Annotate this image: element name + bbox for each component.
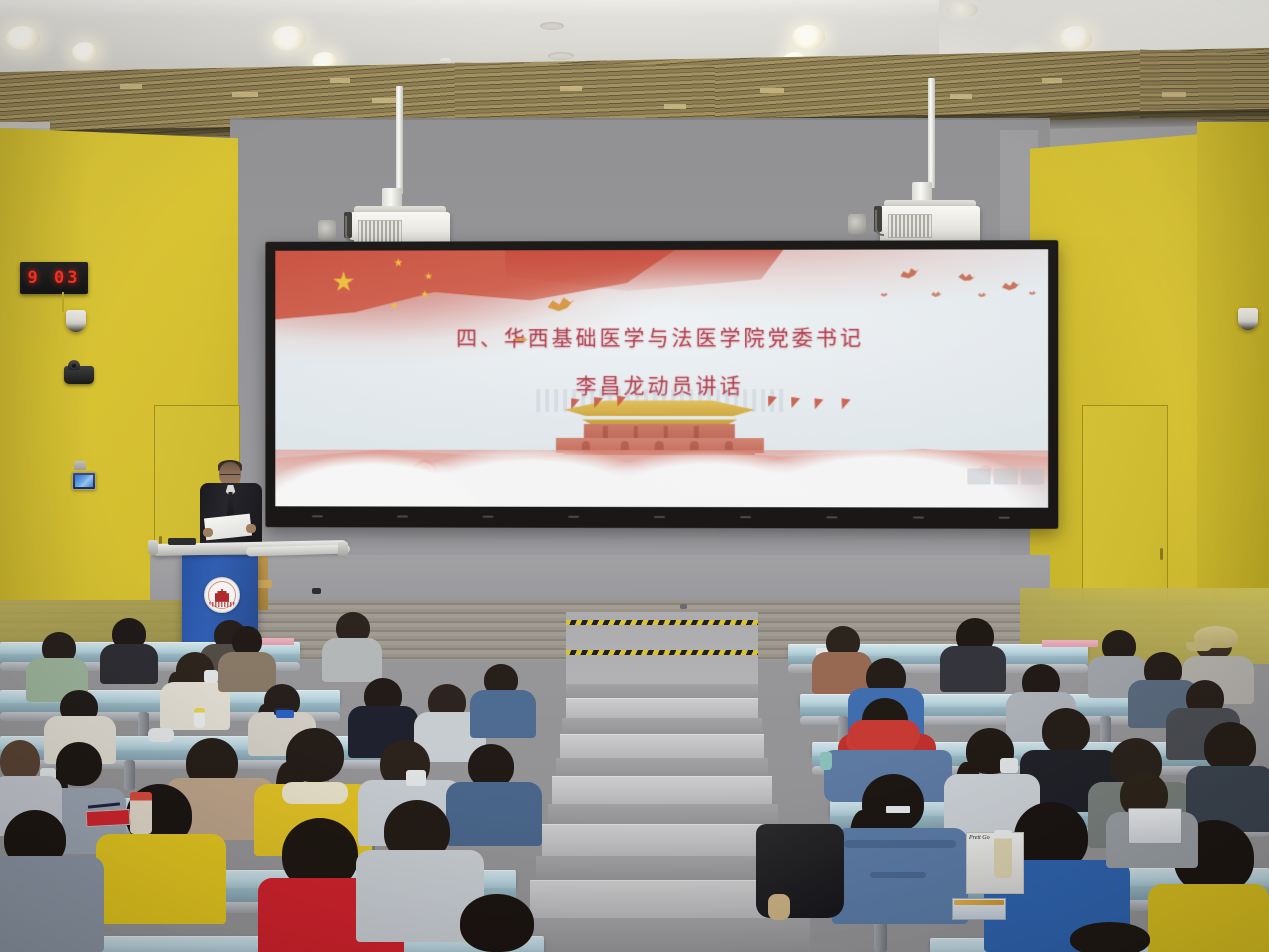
water-bottle <box>194 708 205 728</box>
projector-lens-icon <box>848 214 866 234</box>
water-bottle <box>994 830 1012 878</box>
denim-seam <box>844 840 956 848</box>
desk-leg <box>1100 716 1111 744</box>
slide-embedded-graphic <box>967 458 1044 484</box>
slat-block <box>120 84 142 89</box>
clock-wire <box>62 292 64 312</box>
slat-block <box>560 86 582 91</box>
projector-vent <box>358 220 402 244</box>
speaker-hand <box>246 524 256 533</box>
downlight <box>6 26 40 50</box>
bezel-mark <box>999 517 1010 519</box>
slide-cloud-band <box>275 450 1048 508</box>
slat-block <box>232 92 258 97</box>
projector-cable <box>875 210 884 236</box>
floor-outlet <box>680 604 687 609</box>
slat-block <box>664 104 686 109</box>
clock-display: 9 03 <box>28 268 81 288</box>
step-riser <box>548 804 778 824</box>
dome-camera-icon <box>1238 308 1258 330</box>
graphic-bar <box>994 469 1018 485</box>
laptop-icon <box>1128 808 1182 844</box>
ceiling-vent <box>548 52 574 60</box>
gate-column <box>694 426 698 438</box>
face-mask-icon <box>406 770 426 786</box>
bezel-mark <box>397 515 408 517</box>
slat-block <box>330 78 350 83</box>
lecture-hall-photo: 9 03 <box>0 0 1269 952</box>
red-notebook <box>86 809 131 827</box>
gate-arch <box>621 440 630 449</box>
slat-block <box>950 94 972 99</box>
desk-label <box>886 806 910 813</box>
face-mask-on-desk <box>148 728 174 742</box>
gate-roof <box>564 399 754 416</box>
downlight <box>1060 26 1092 51</box>
person-head <box>1204 722 1256 772</box>
slat-block <box>1162 92 1186 97</box>
step-riser <box>566 684 758 698</box>
gate-column <box>664 426 668 438</box>
wall-sensor-icon <box>74 461 86 470</box>
slat-block <box>760 88 784 93</box>
bezel-mark <box>912 516 923 518</box>
bezel-mark <box>312 515 323 517</box>
person-torso <box>218 652 276 692</box>
gate-arch <box>690 441 699 450</box>
desk-pink-trim <box>1042 640 1098 647</box>
step-riser <box>556 758 768 776</box>
floor-cable-box <box>312 588 321 594</box>
downlight <box>272 26 306 51</box>
step-riser <box>562 718 762 734</box>
downlight <box>792 25 825 49</box>
person-torso <box>446 782 542 846</box>
eyeglasses-icon <box>1000 758 1018 773</box>
small-bottle <box>820 752 832 770</box>
person-head <box>1070 922 1150 952</box>
screen-display-area: 四、华西基础医学与法医学院党委书记 李昌龙动员讲话 <box>275 249 1048 507</box>
slat-block <box>1042 78 1062 83</box>
snack-lid <box>954 900 1004 905</box>
plush-keychain-icon <box>768 894 790 920</box>
person-torso-yellow <box>1148 884 1269 952</box>
bezel-mark <box>568 516 579 518</box>
person-torso <box>470 690 536 738</box>
step-riser <box>536 856 792 880</box>
slide-heading-line1: 四、华西基础医学与法医学院党委书记 <box>275 327 1048 351</box>
bezel-mark <box>826 516 837 518</box>
snack-box <box>952 898 1006 920</box>
hazard-tape <box>566 650 758 655</box>
dome-camera-icon <box>66 310 86 332</box>
screen-bezel <box>275 509 1048 525</box>
person-torso <box>0 856 104 952</box>
aisle-step <box>542 824 784 856</box>
speaker-hand <box>203 528 213 537</box>
slat-block <box>372 98 396 103</box>
av-control-panel[interactable] <box>72 472 96 490</box>
bezel-mark <box>483 516 494 518</box>
thermos-bottle <box>130 792 152 834</box>
gate-column <box>634 426 638 438</box>
graphic-bar <box>1021 469 1045 485</box>
hazard-tape <box>566 620 758 625</box>
projection-screen[interactable]: 四、华西基础医学与法医学院党委书记 李昌龙动员讲话 <box>265 240 1058 529</box>
bezel-mark <box>740 516 751 518</box>
person-torso-yellow-hoodie <box>96 834 226 924</box>
door-handle-icon <box>1160 548 1163 560</box>
panel-screen <box>75 475 93 487</box>
person-torso <box>100 644 158 684</box>
step-riser <box>524 918 810 952</box>
projector-mount-pole <box>396 86 403 194</box>
rail-end-cap <box>338 542 348 556</box>
gate-column <box>603 426 607 438</box>
aisle-step <box>552 776 772 804</box>
digital-wall-clock: 9 03 <box>20 262 88 294</box>
projector-lens-icon <box>318 220 336 240</box>
projector-mount-pole <box>928 78 935 188</box>
face-mask-icon <box>204 670 218 683</box>
gate-arch <box>655 440 664 449</box>
hoodie-collar <box>282 782 348 804</box>
microphone-unit <box>168 538 196 545</box>
side-wall-right-corner <box>1197 122 1269 642</box>
audience-seating-area: Prett Go <box>0 612 1269 952</box>
aisle-step <box>560 734 764 758</box>
gate-arch <box>582 440 591 449</box>
aisle-step <box>566 698 758 718</box>
person-torso <box>322 638 382 682</box>
downlight <box>72 42 98 62</box>
projector-cable <box>345 216 354 242</box>
desk-leg <box>124 760 135 790</box>
gate-arch <box>724 441 733 450</box>
rail-end-cap <box>148 540 158 554</box>
person-torso <box>940 646 1006 692</box>
university-crest-icon <box>204 577 240 613</box>
bezel-mark <box>654 516 665 518</box>
eyeglasses-icon <box>220 474 240 478</box>
projector-vent <box>888 214 932 238</box>
person-head <box>460 894 534 952</box>
downlight <box>946 2 978 18</box>
graphic-bar <box>967 469 991 485</box>
crest-text-arc <box>209 602 235 607</box>
ceiling-vent <box>540 22 564 30</box>
magazine-title: Prett Go <box>969 835 990 841</box>
cap-brim <box>1186 642 1212 651</box>
phone-case <box>276 710 294 718</box>
denim-seam <box>870 872 926 878</box>
hood-front <box>848 720 920 750</box>
side-wall-left-shading <box>0 128 88 640</box>
ptz-camera-icon <box>64 366 94 384</box>
